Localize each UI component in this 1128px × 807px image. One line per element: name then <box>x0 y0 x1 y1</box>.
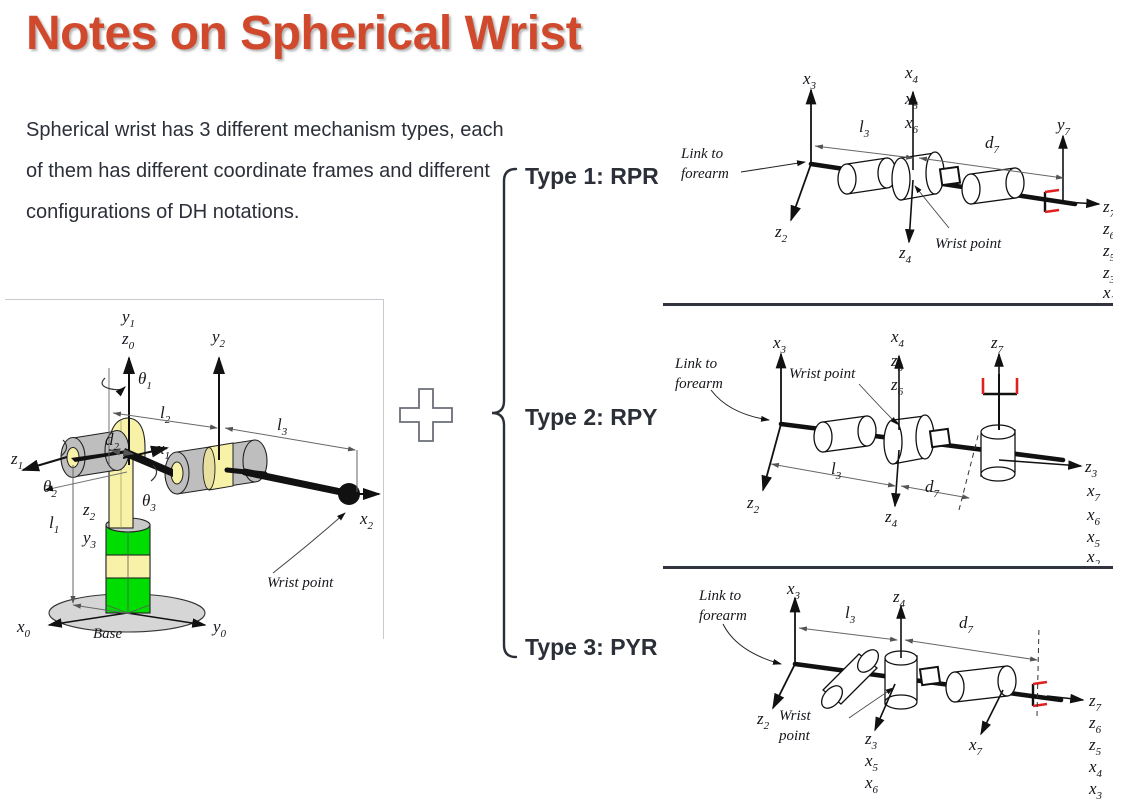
grouping-brace <box>486 165 520 666</box>
stack-z7: z7 <box>1102 197 1113 220</box>
label-base: Base <box>93 626 123 639</box>
label-z4: z4 <box>884 507 898 530</box>
label-x5: x5 <box>904 89 919 112</box>
label-x5: x5 <box>864 751 879 774</box>
label-link-forearm-2: forearm <box>675 376 723 392</box>
wrist-cylinder-3 <box>962 168 1024 204</box>
robot-arm-diagram: y1 z0 y2 θ1 θ2 θ3 l1 l2 l3 d2 x0 x1 x2 y… <box>5 300 383 639</box>
label-wrist-point-1: Wrist <box>779 708 812 724</box>
wrist-joint-cylinder <box>892 152 944 200</box>
label-x6: x6 <box>904 113 919 136</box>
label-z6: z6 <box>890 375 904 398</box>
wrist-diagram-rpy: x3 x4 z5 z6 z7 z2 z4 z3 l3 d7 Link to fo… <box>663 312 1113 569</box>
stack-x3: x3 <box>1088 779 1103 802</box>
plus-icon <box>396 385 456 450</box>
label-y3: y3 <box>81 528 97 551</box>
label-y2: y2 <box>210 327 226 350</box>
label-x7: x7 <box>968 735 983 758</box>
label-l3: l3 <box>831 459 842 482</box>
label-l3: l3 <box>859 117 870 140</box>
stack-z5: z5 <box>1088 735 1102 758</box>
robot-arm-panel: y1 z0 y2 θ1 θ2 θ3 l1 l2 l3 d2 x0 x1 x2 y… <box>5 299 384 639</box>
label-l3: l3 <box>277 415 288 438</box>
label-z2: z2 <box>774 222 788 245</box>
stack-z5: z5 <box>1102 241 1113 264</box>
label-theta2: θ2 <box>43 477 57 500</box>
label-link-forearm-1: Link to <box>680 146 724 162</box>
label-x1: x1 <box>156 439 170 462</box>
label-z3: z3 <box>864 729 878 752</box>
label-wrist-point: Wrist point <box>267 575 334 591</box>
label-x4: x4 <box>904 63 919 86</box>
coupler-block <box>920 667 940 685</box>
label-l1: l1 <box>49 513 59 536</box>
label-x6: x6 <box>864 773 879 796</box>
slide-canvas: Notes on Spherical Wrist Spherical wrist… <box>0 0 1128 804</box>
label-x3: x3 <box>772 333 787 356</box>
stack-z6: z6 <box>1102 219 1113 242</box>
label-x4: x4 <box>890 327 905 350</box>
wrist-diagram-pyr: x3 z4 z2 z3 x5 x6 x7 l3 d7 Link to forea… <box>663 572 1113 807</box>
stack-z7: z7 <box>1088 691 1102 714</box>
coupler-block <box>940 167 960 185</box>
wrist-joint-cylinder <box>884 415 934 464</box>
label-y7: y7 <box>1055 115 1071 138</box>
label-link-forearm-1: Link to <box>698 588 742 604</box>
stack-x7: x7 <box>1086 481 1101 504</box>
wrist-diagram-rpr: x3 x4 x5 x6 y7 z2 z4 Link to forearm Wri… <box>663 52 1113 305</box>
label-l2: l2 <box>160 403 171 426</box>
stack-x4: x4 <box>1088 757 1103 780</box>
label-link-forearm-2: forearm <box>681 166 729 182</box>
label-l3: l3 <box>845 603 856 626</box>
label-x2: x2 <box>359 509 374 532</box>
coupler-block <box>930 429 950 447</box>
label-z4: z4 <box>898 243 912 266</box>
label-z2: z2 <box>756 709 770 732</box>
wrist-cylinder-1 <box>814 416 876 452</box>
gripper-icon <box>1033 682 1047 706</box>
type-label-1: Type 1: RPR <box>525 163 659 190</box>
label-z2: z2 <box>746 493 760 516</box>
label-x3: x3 <box>802 69 817 92</box>
type-label-2: Type 2: RPY <box>525 404 658 431</box>
gripper-icon <box>983 374 1017 430</box>
label-y0: y0 <box>211 617 227 639</box>
label-d7: d7 <box>985 133 1000 156</box>
end-cylinder <box>981 425 1015 481</box>
label-z1: z1 <box>10 449 23 472</box>
label-link-forearm-2: forearm <box>699 608 747 624</box>
label-z0: z0 <box>121 329 135 352</box>
label-y1: y1 <box>120 307 135 330</box>
label-theta3: θ3 <box>142 491 156 514</box>
stack-x6: x6 <box>1086 505 1101 528</box>
label-d7: d7 <box>925 477 940 500</box>
wrist-cylinder-1 <box>838 158 896 194</box>
label-z2: z2 <box>82 500 96 523</box>
label-theta1: θ1 <box>138 369 152 392</box>
wrist-cylinder-3 <box>946 666 1016 702</box>
stack-z6: z6 <box>1088 713 1102 736</box>
label-x3: x3 <box>786 579 801 602</box>
base-column <box>106 518 150 613</box>
label-z4: z4 <box>892 587 906 610</box>
elbow-joint <box>165 440 267 494</box>
label-link-forearm-1: Link to <box>674 356 718 372</box>
label-wrist-point: Wrist point <box>789 366 856 382</box>
label-z7: z7 <box>990 333 1004 356</box>
type-label-3: Type 3: PYR <box>525 634 658 661</box>
label-z3: z3 <box>1084 457 1098 480</box>
label-wrist-point-2: point <box>778 728 811 744</box>
body-paragraph: Spherical wrist has 3 different mechanis… <box>26 110 506 233</box>
label-d7: d7 <box>959 613 974 636</box>
page-title: Notes on Spherical Wrist <box>26 6 581 61</box>
label-wrist-point: Wrist point <box>935 236 1002 252</box>
label-x0: x0 <box>16 617 31 639</box>
label-z5: z5 <box>890 351 904 374</box>
wrist-joint-cylinder <box>885 651 917 709</box>
